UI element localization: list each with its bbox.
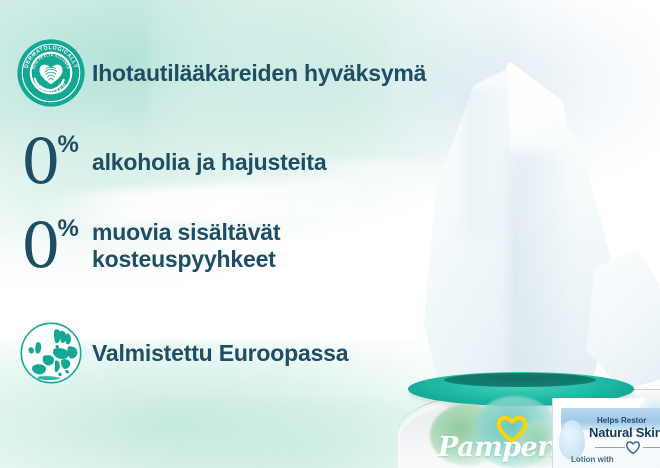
feature-icon-slot	[10, 320, 92, 386]
feature-icon-slot: 0%	[10, 131, 92, 193]
percent-symbol: %	[58, 131, 79, 158]
feature-row-dermatologically-approved: DERMATOLOGICALLY APPROVED SKIN HEALTH AL…	[10, 38, 426, 108]
feature-row-made-in-europe: Valmistettu Euroopassa	[10, 320, 348, 386]
zero-percent-icon: 0%	[21, 131, 81, 193]
zero-percent-icon: 0%	[21, 215, 81, 277]
zero-value: 0	[21, 209, 59, 282]
feature-label-dermatologically-approved: Ihotautilääkäreiden hyväksymä	[92, 60, 426, 87]
feature-label-zero-plastic: muovia sisältävät kosteuspyyhkeet	[92, 219, 440, 272]
feature-row-zero-plastic: 0% muovia sisältävät kosteuspyyhkeet	[10, 215, 440, 277]
feature-label-made-in-europe: Valmistettu Euroopassa	[92, 340, 348, 367]
pampers-wipes-promo-banner: Pampers. Helps Restor Natural Skin Lotio…	[0, 0, 660, 468]
feature-row-zero-alcohol: 0% alkoholia ja hajusteita	[10, 131, 326, 193]
made-in-europe-globe-icon	[18, 320, 84, 386]
zero-value: 0	[21, 125, 59, 198]
feature-list: DERMATOLOGICALLY APPROVED SKIN HEALTH AL…	[0, 0, 440, 468]
feature-icon-slot: 0%	[10, 215, 92, 277]
feature-icon-slot: DERMATOLOGICALLY APPROVED SKIN HEALTH AL…	[10, 38, 92, 108]
percent-symbol: %	[58, 215, 79, 242]
dermatologically-approved-badge-icon: DERMATOLOGICALLY APPROVED SKIN HEALTH AL…	[16, 38, 86, 108]
feature-label-zero-alcohol: alkoholia ja hajusteita	[92, 149, 326, 176]
